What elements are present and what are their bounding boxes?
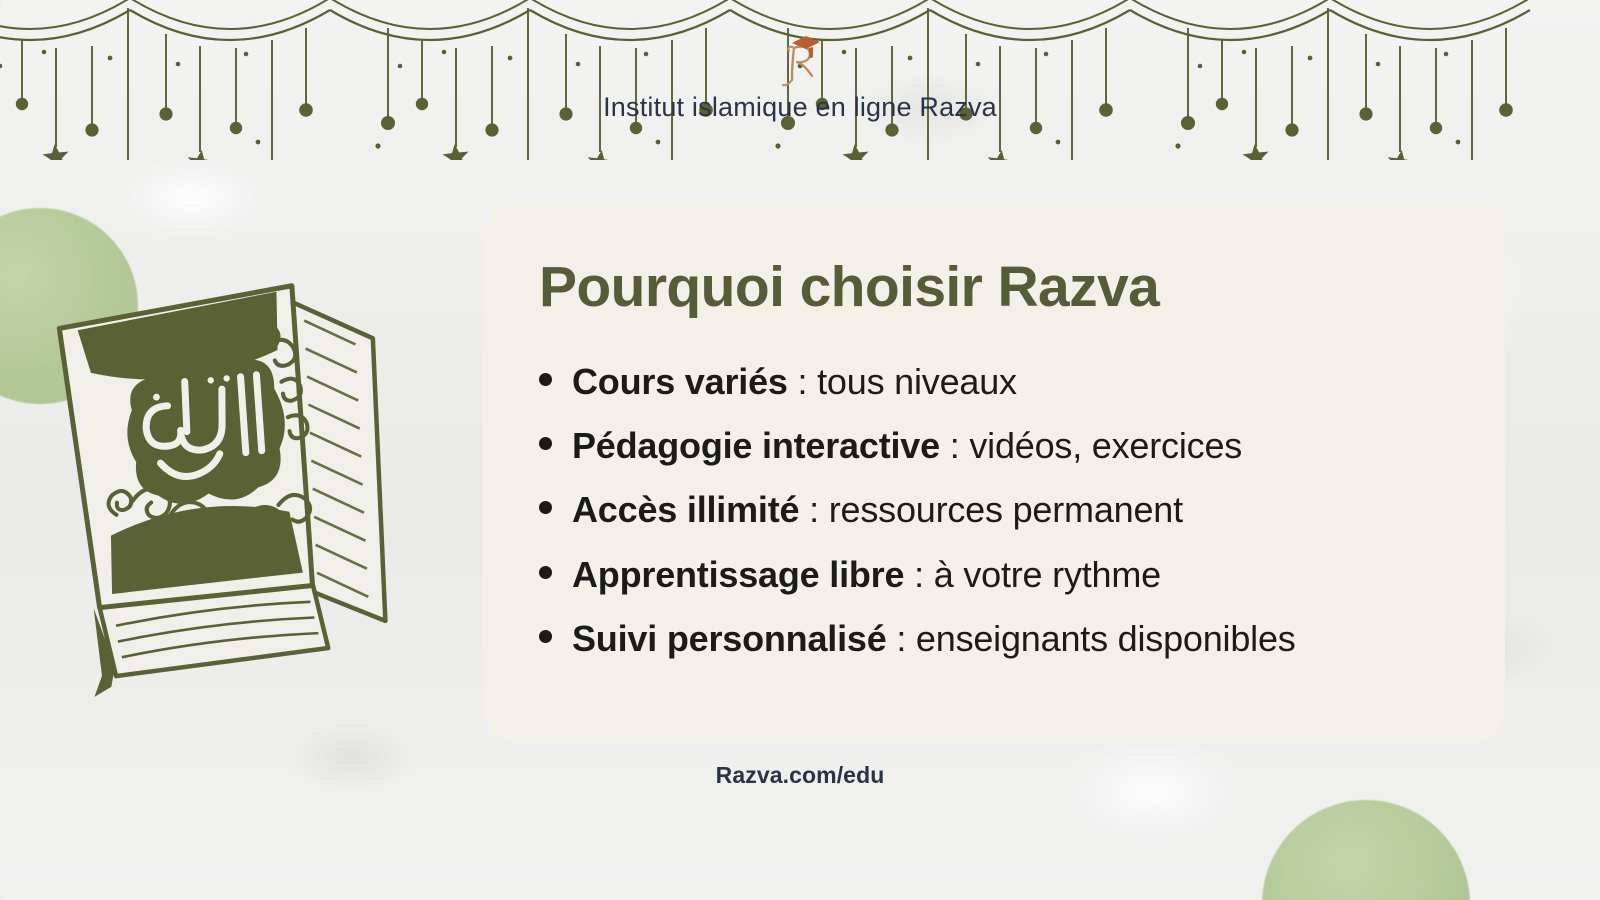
benefit-separator: : [940,425,969,466]
benefit-separator: : [799,489,828,530]
bullet-icon [539,437,552,450]
benefit-detail: à votre rythme [934,554,1161,595]
footer-url[interactable]: Razva.com/edu [0,762,1600,789]
benefit-detail: ressources permanent [829,489,1183,530]
benefit-separator: : [904,554,933,595]
benefit-detail: vidéos, exercices [969,425,1242,466]
benefit-lead: Suivi personnalisé [572,618,887,659]
benefit-text: Suivi personnalisé : enseignants disponi… [572,619,1296,659]
benefit-lead: Apprentissage libre [572,554,904,595]
list-item: Cours variés : tous niveaux [539,362,1457,402]
benefit-text: Pédagogie interactive : vidéos, exercice… [572,426,1242,466]
benefit-text: Accès illimité : ressources permanent [572,490,1183,530]
benefit-detail: tous niveaux [817,361,1017,402]
benefit-lead: Cours variés [572,361,788,402]
graduation-cap-script-r-logo-icon [772,28,828,90]
brand-header: Institut islamique en ligne Razva [0,28,1600,123]
benefit-text: Cours variés : tous niveaux [572,362,1017,402]
bullet-icon [539,630,552,643]
list-item: Suivi personnalisé : enseignants disponi… [539,619,1457,659]
benefit-separator: : [887,618,916,659]
slide-canvas: Institut islamique en ligne Razva [0,0,1600,900]
bullet-icon [539,373,552,386]
list-item: Pédagogie interactive : vidéos, exercice… [539,426,1457,466]
benefits-list: Cours variés : tous niveaux Pédagogie in… [539,362,1457,660]
bullet-icon [539,566,552,579]
brand-title: Institut islamique en ligne Razva [603,92,997,123]
benefit-detail: enseignants disponibles [916,618,1296,659]
benefit-separator: : [788,361,817,402]
watercolor-green-circle-bottom-right [1262,800,1470,900]
benefit-lead: Pédagogie interactive [572,425,940,466]
benefit-lead: Accès illimité [572,489,799,530]
benefit-text: Apprentissage libre : à votre rythme [572,555,1161,595]
list-item: Apprentissage libre : à votre rythme [539,555,1457,595]
bullet-icon [539,501,552,514]
benefits-card: Pourquoi choisir Razva Cours variés : to… [483,202,1505,742]
quran-book-illustration-icon [36,236,468,704]
list-item: Accès illimité : ressources permanent [539,490,1457,530]
page-title: Pourquoi choisir Razva [539,258,1457,318]
